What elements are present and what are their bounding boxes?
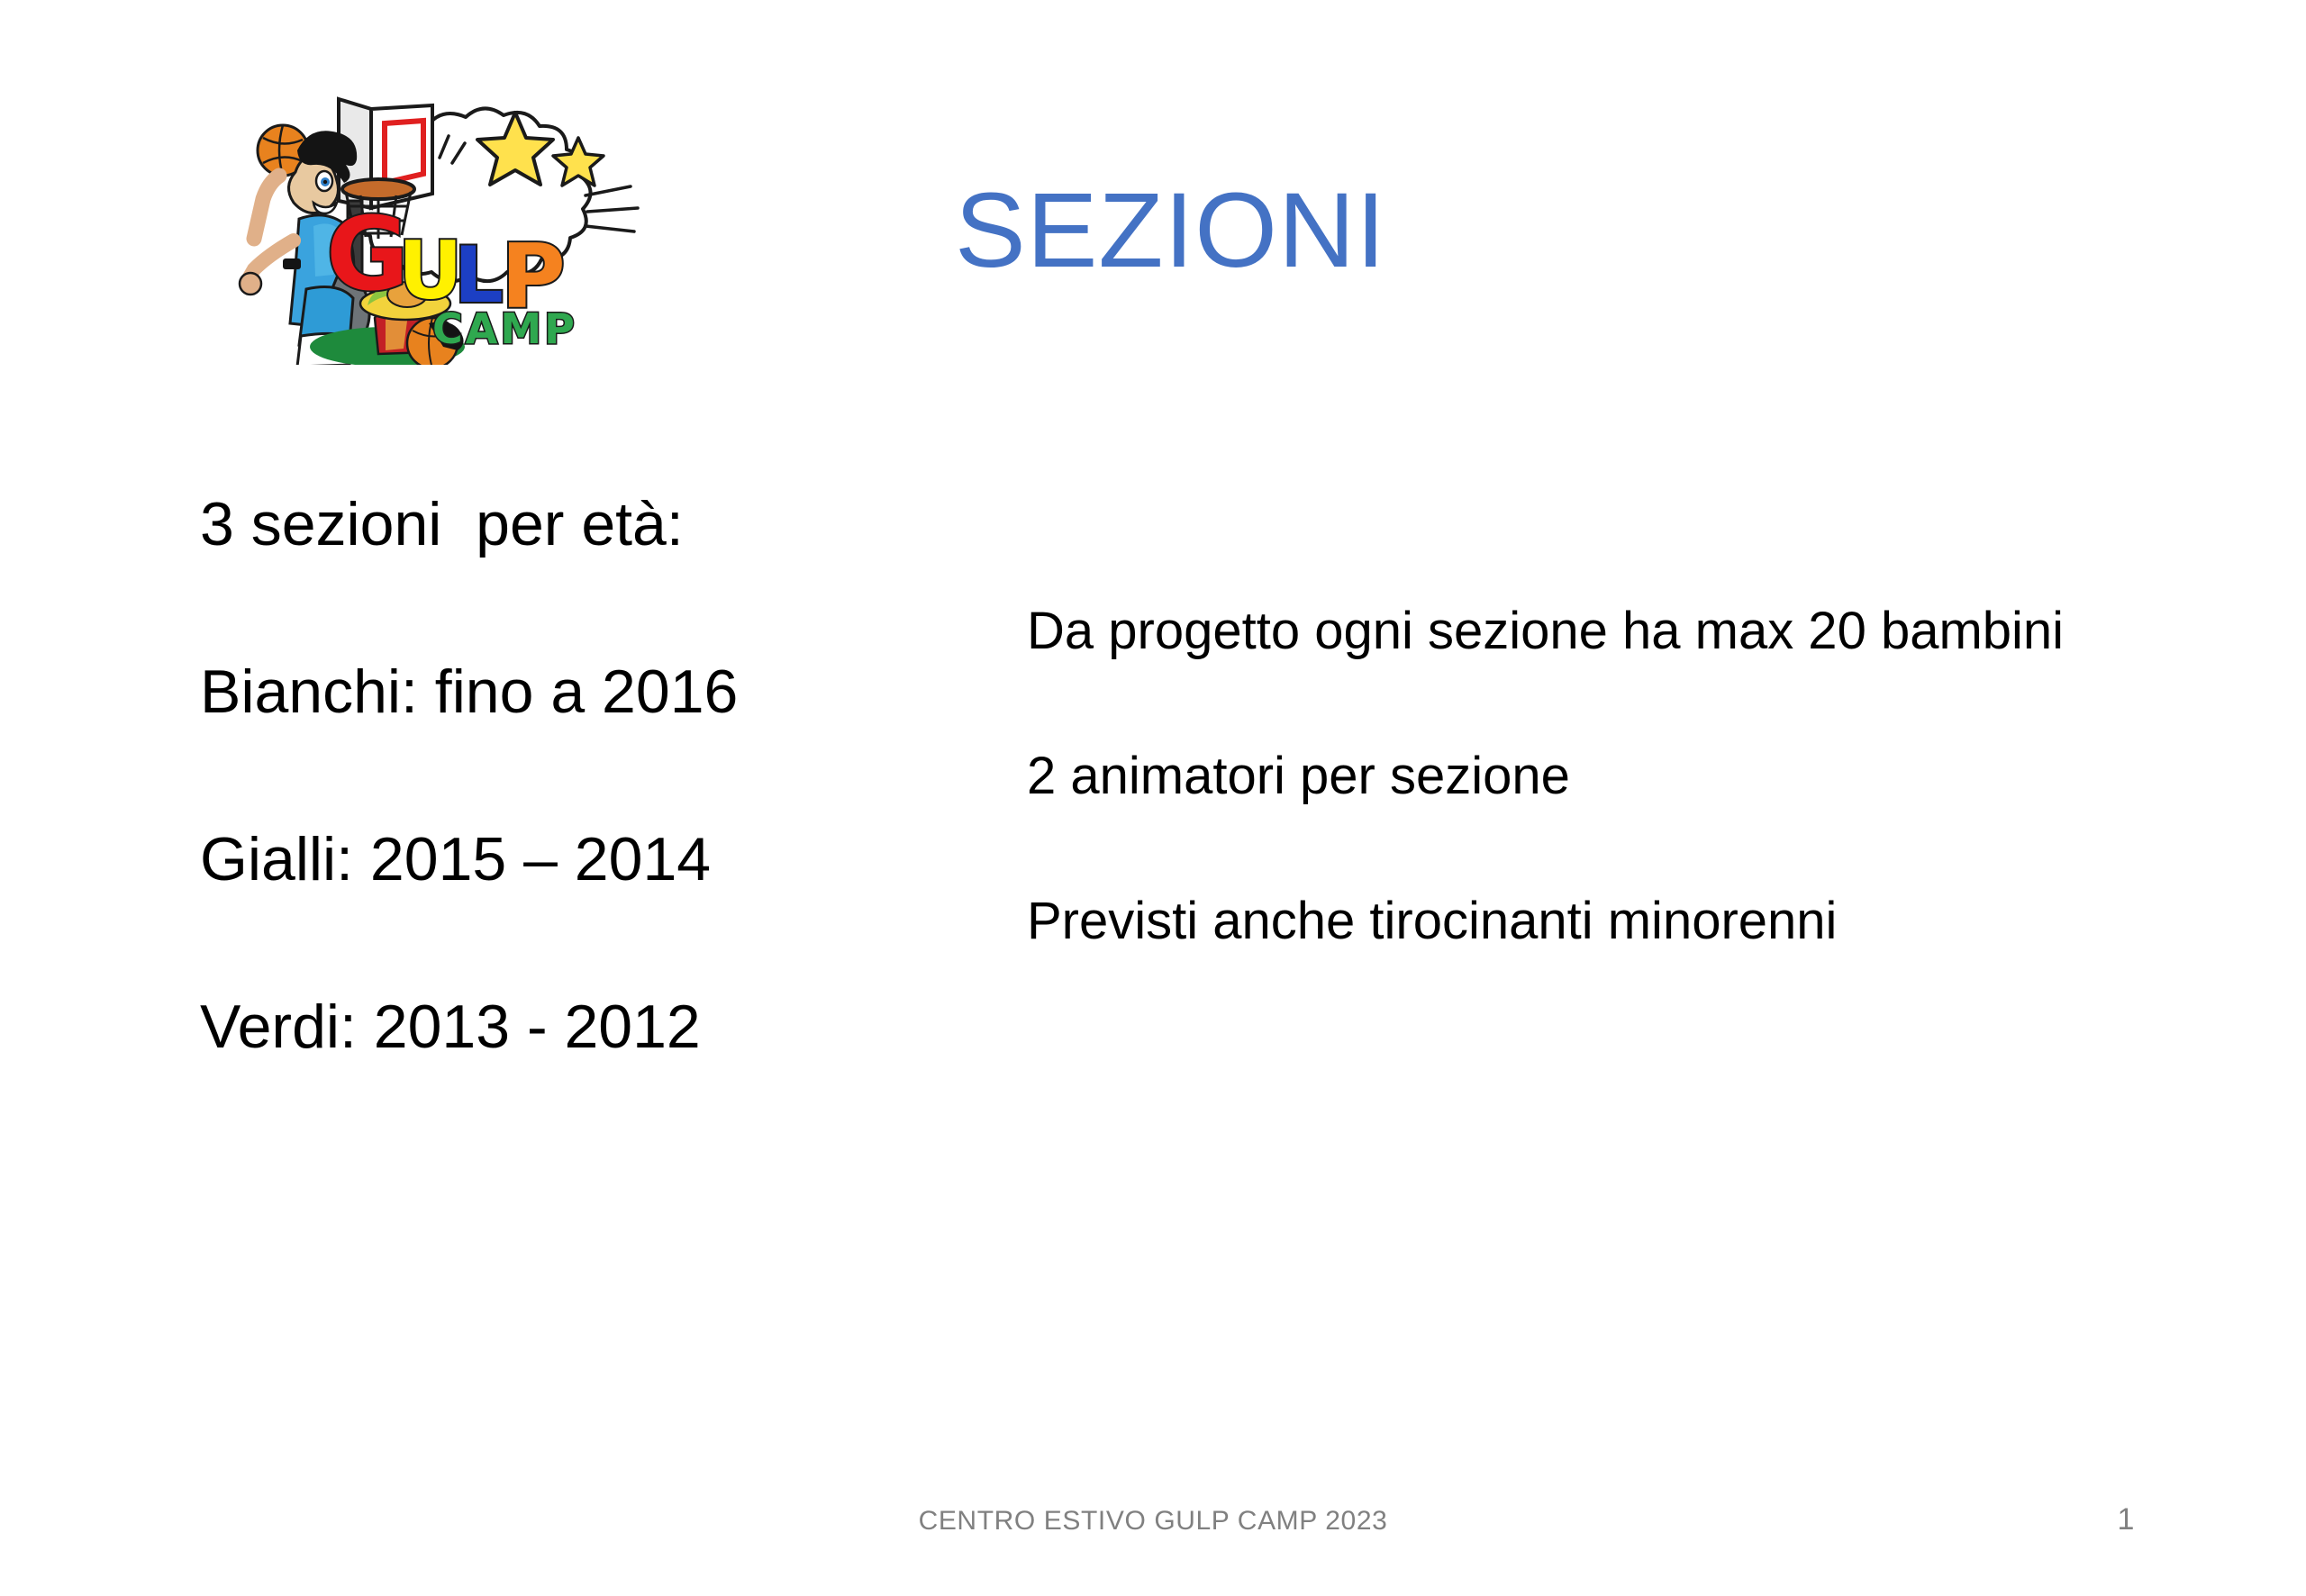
presentation-slide: G U L P CAMP SEZIONI 3 sezioni per età: … [0,0,2306,1596]
sections-list: 3 sezioni per età: Bianchi: fino a 2016 … [200,494,1011,1057]
list-item: Gialli: 2015 – 2014 [200,829,1011,890]
gulp-camp-logo: G U L P CAMP [162,50,667,365]
logo-subtitle-camp: CAMP [432,304,577,353]
footer-text: CENTRO ESTIVO GULP CAMP 2023 [0,1506,2306,1537]
page-number: 1 [2099,1502,2153,1537]
details-list: Da progetto ogni sezione ha max 20 bambi… [1027,605,2216,948]
logo-letter-u: U [398,224,462,317]
list-item: 3 sezioni per età: [200,494,1011,555]
list-item: 2 animatori per sezione [1027,750,2216,803]
logo-letter-g: G [326,196,409,313]
list-item: Bianchi: fino a 2016 [200,661,1011,722]
list-item: Previsti anche tirocinanti minorenni [1027,895,2216,948]
list-item: Da progetto ogni sezione ha max 20 bambi… [1027,605,2216,657]
list-item: Verdi: 2013 - 2012 [200,996,1011,1057]
page-title: SEZIONI [955,176,1386,287]
